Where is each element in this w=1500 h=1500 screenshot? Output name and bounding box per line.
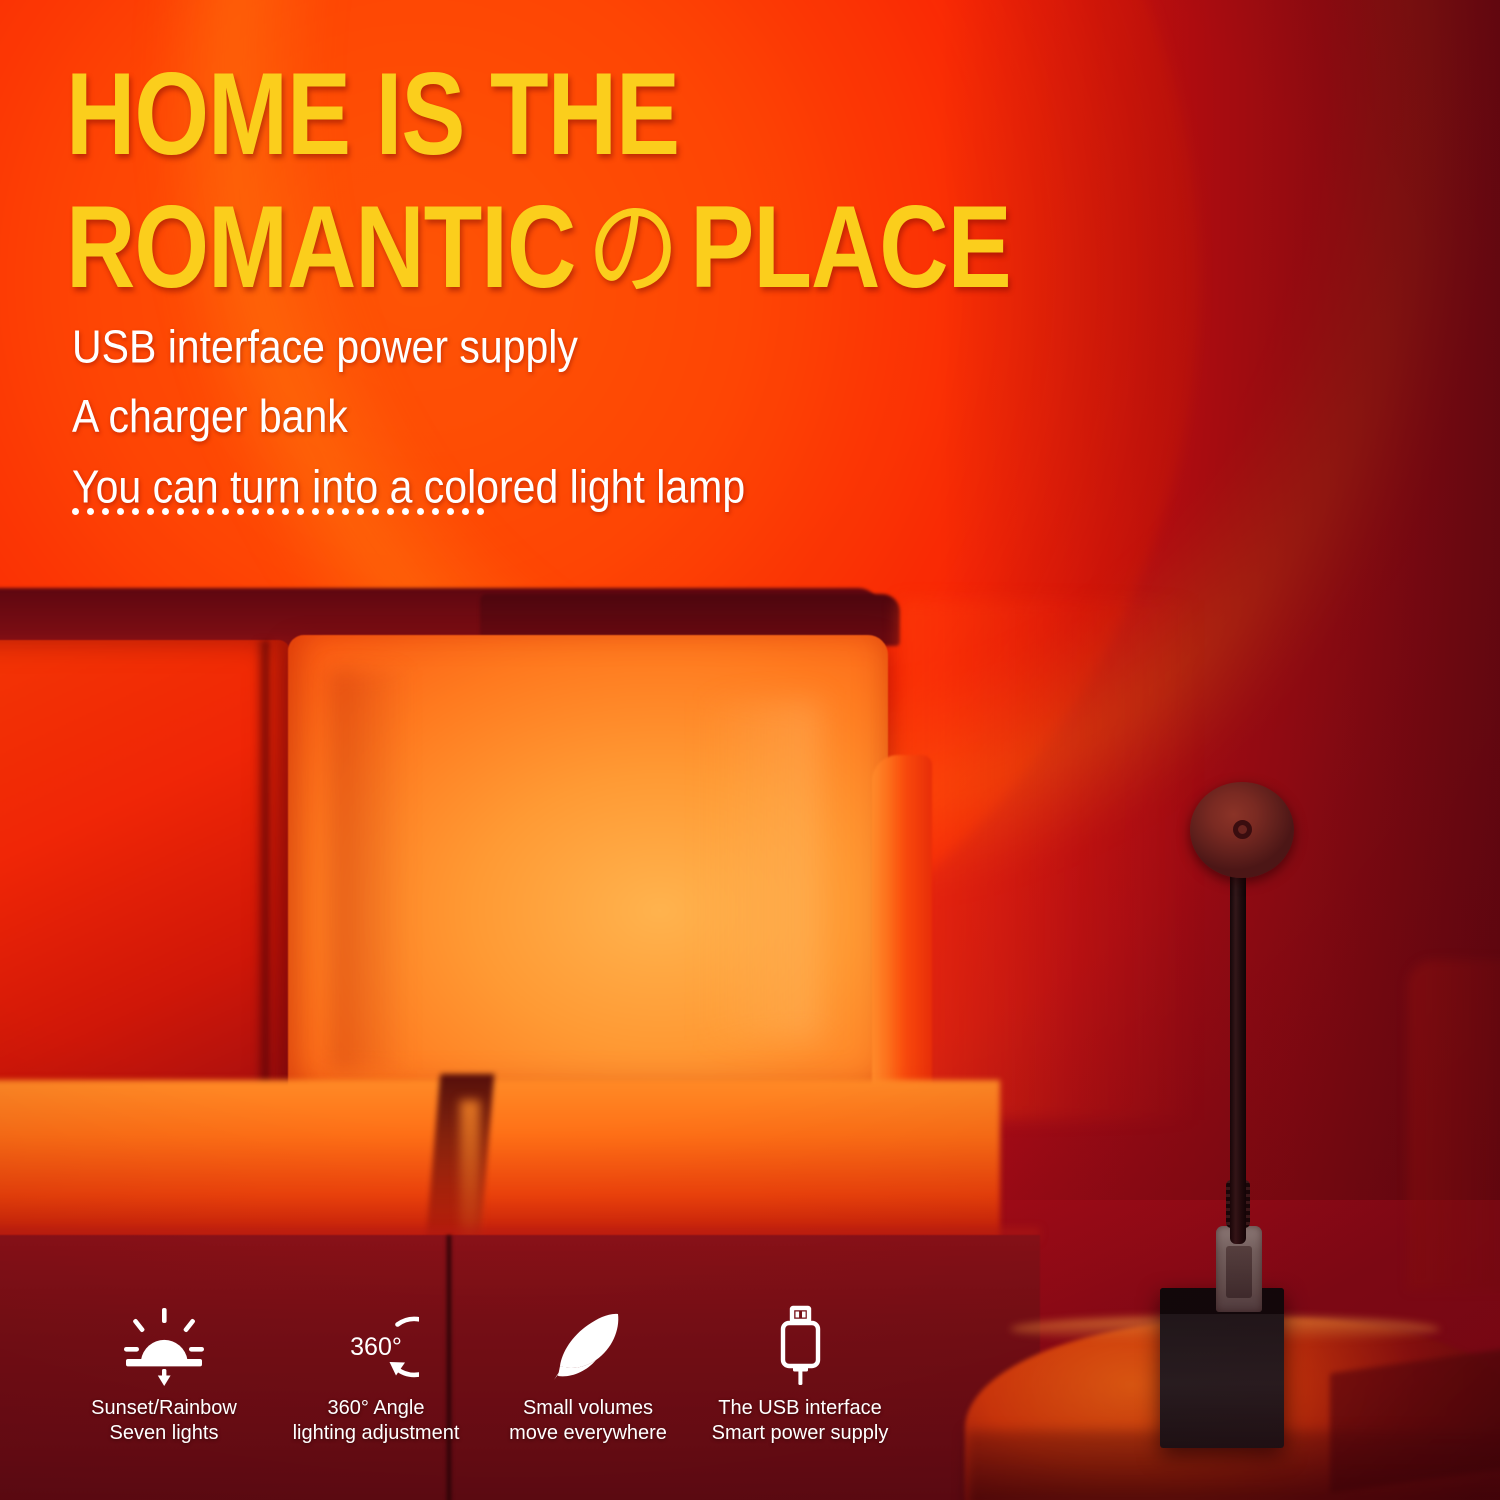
divider-dot [87, 508, 94, 515]
feature-caption-line-2: Seven lights [91, 1421, 237, 1446]
feature-caption-line-1: Sunset/Rainbow [91, 1396, 237, 1421]
divider-dot [327, 508, 334, 515]
feather-icon [546, 1300, 630, 1392]
divider-dot [357, 508, 364, 515]
divider-dot [372, 508, 379, 515]
page-title: HOME IS THE ROMANTICのPLACE [66, 48, 1326, 315]
feature-caption: Small volumesmove everywhere [509, 1396, 667, 1446]
divider-dot [147, 508, 154, 515]
divider-dot [282, 508, 289, 515]
feature-caption-line-2: Smart power supply [712, 1421, 889, 1446]
headline-line-2: ROMANTICのPLACE [66, 182, 1326, 316]
divider-dot [417, 508, 424, 515]
divider-dot [252, 508, 259, 515]
headline-japanese-no: の [575, 189, 690, 312]
divider-dot [192, 508, 199, 515]
divider-dot [267, 508, 274, 515]
divider-dot [402, 508, 409, 515]
divider-dot [432, 508, 439, 515]
feature-caption-line-1: The USB interface [712, 1396, 889, 1421]
divider-dot [102, 508, 109, 515]
feature-row: Sunset/RainbowSeven lights 360° 360° Ang… [58, 1300, 908, 1446]
usb-connector-icon [768, 1300, 832, 1392]
divider-dot [237, 508, 244, 515]
feature-caption-line-2: lighting adjustment [293, 1421, 460, 1446]
divider-dot [117, 508, 124, 515]
feature-caption: The USB interfaceSmart power supply [712, 1396, 889, 1446]
headline-line-1: HOME IS THE [66, 48, 1326, 182]
subtitle-line-2: A charger bank [72, 382, 745, 452]
feature-caption-line-1: 360° Angle [293, 1396, 460, 1421]
feature-caption-line-2: move everywhere [509, 1421, 667, 1446]
divider-dot [312, 508, 319, 515]
subtitle-line-1: USB interface power supply [72, 312, 745, 382]
divider-dot [462, 508, 469, 515]
feature-item-3: Small volumesmove everywhere [482, 1300, 694, 1446]
rotation-360-icon: 360° [333, 1300, 419, 1392]
sunset-icon [122, 1300, 206, 1392]
divider-dot [177, 508, 184, 515]
subtitle-block: USB interface power supply A charger ban… [72, 312, 745, 521]
divider-dot [132, 508, 139, 515]
divider-dot [477, 508, 484, 515]
divider-dot [72, 508, 79, 515]
product-marketing-poster: HOME IS THE ROMANTICのPLACE USB interface… [0, 0, 1500, 1500]
divider-dot [162, 508, 169, 515]
dotted-divider [72, 508, 484, 515]
divider-dot [222, 508, 229, 515]
divider-dot [207, 508, 214, 515]
divider-dot [342, 508, 349, 515]
feature-caption: Sunset/RainbowSeven lights [91, 1396, 237, 1446]
svg-text:360°: 360° [350, 1333, 402, 1361]
feature-caption-line-1: Small volumes [509, 1396, 667, 1421]
feature-item-2: 360° 360° Anglelighting adjustment [270, 1300, 482, 1446]
feature-caption: 360° Anglelighting adjustment [293, 1396, 460, 1446]
headline-romantic: ROMANTIC [66, 183, 575, 314]
divider-dot [387, 508, 394, 515]
feature-item-1: Sunset/RainbowSeven lights [58, 1300, 270, 1446]
divider-dot [447, 508, 454, 515]
divider-dot [297, 508, 304, 515]
headline-place: PLACE [690, 183, 1010, 314]
feature-item-4: The USB interfaceSmart power supply [694, 1300, 906, 1446]
